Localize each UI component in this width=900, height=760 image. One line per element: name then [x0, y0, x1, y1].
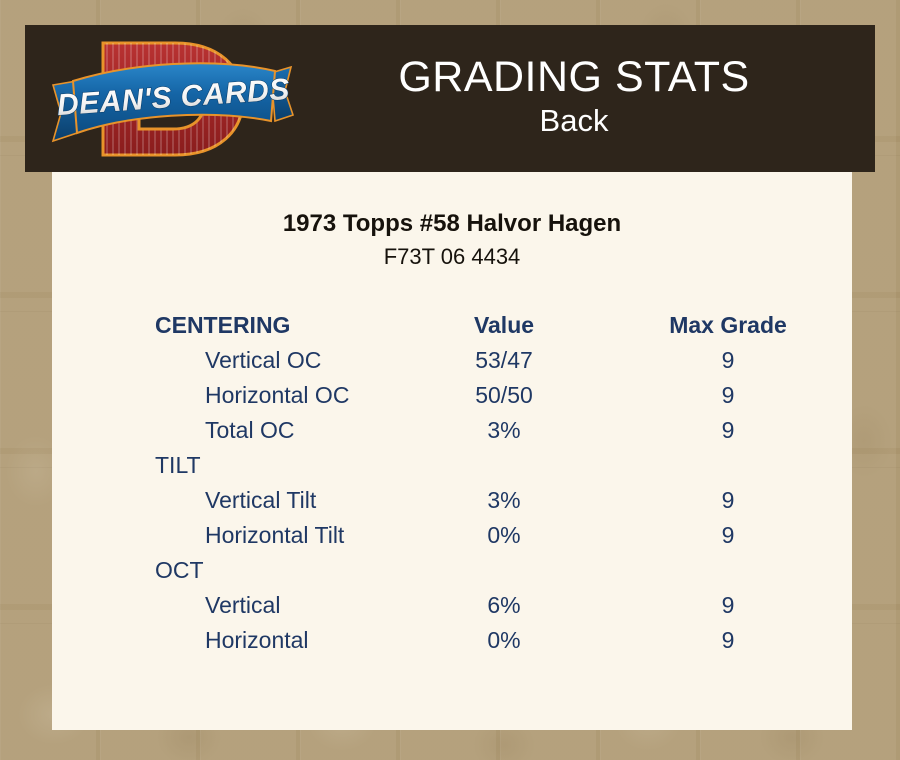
stat-label: Horizontal OC: [52, 378, 404, 413]
stat-max-grade: 9: [604, 343, 852, 378]
stat-max-grade: 9: [604, 483, 852, 518]
table-row: Horizontal OC50/509: [52, 378, 852, 413]
section-header-label: OCT: [52, 553, 852, 588]
table-row: Horizontal Tilt0%9: [52, 518, 852, 553]
table-header-row: CENTERING Value Max Grade: [52, 308, 852, 343]
stat-value: 0%: [404, 623, 604, 658]
stat-label: Horizontal Tilt: [52, 518, 404, 553]
stat-max-grade: 9: [604, 518, 852, 553]
deans-cards-logo: DEAN'S CARDS: [43, 29, 303, 169]
stat-label: Horizontal: [52, 623, 404, 658]
section-header-label: TILT: [52, 448, 852, 483]
column-header-value: Value: [404, 308, 604, 343]
section-header-row: OCT: [52, 553, 852, 588]
page-subtitle: Back: [303, 100, 845, 142]
stat-value: 0%: [404, 518, 604, 553]
section-header-row: TILT: [52, 448, 852, 483]
stat-label: Total OC: [52, 413, 404, 448]
card-title: 1973 Topps #58 Halvor Hagen: [52, 210, 852, 238]
table-row: Vertical OC53/479: [52, 343, 852, 378]
stat-label: Vertical OC: [52, 343, 404, 378]
header-bar: DEAN'S CARDS GRADING STATS Back: [25, 25, 875, 172]
stats-table-body: Vertical OC53/479Horizontal OC50/509Tota…: [52, 343, 852, 658]
grading-stats-table: CENTERING Value Max Grade Vertical OC53/…: [52, 308, 852, 658]
stat-value: 3%: [404, 483, 604, 518]
stat-value: 53/47: [404, 343, 604, 378]
stat-value: 6%: [404, 588, 604, 623]
stat-value: 3%: [404, 413, 604, 448]
stats-table-head: CENTERING Value Max Grade: [52, 308, 852, 343]
column-header-max-grade: Max Grade: [604, 308, 852, 343]
header-title-group: GRADING STATS Back: [303, 55, 875, 142]
stat-max-grade: 9: [604, 378, 852, 413]
table-row: Total OC3%9: [52, 413, 852, 448]
page-title: GRADING STATS: [303, 55, 845, 100]
stat-max-grade: 9: [604, 623, 852, 658]
content-panel: 1973 Topps #58 Halvor Hagen F73T 06 4434…: [52, 172, 852, 730]
table-row: Vertical Tilt3%9: [52, 483, 852, 518]
stat-label: Vertical Tilt: [52, 483, 404, 518]
stat-max-grade: 9: [604, 588, 852, 623]
stat-value: 50/50: [404, 378, 604, 413]
stat-max-grade: 9: [604, 413, 852, 448]
table-row: Vertical6%9: [52, 588, 852, 623]
stat-label: Vertical: [52, 588, 404, 623]
table-row: Horizontal0%9: [52, 623, 852, 658]
card-serial-number: F73T 06 4434: [52, 244, 852, 270]
column-header-centering: CENTERING: [52, 308, 404, 343]
